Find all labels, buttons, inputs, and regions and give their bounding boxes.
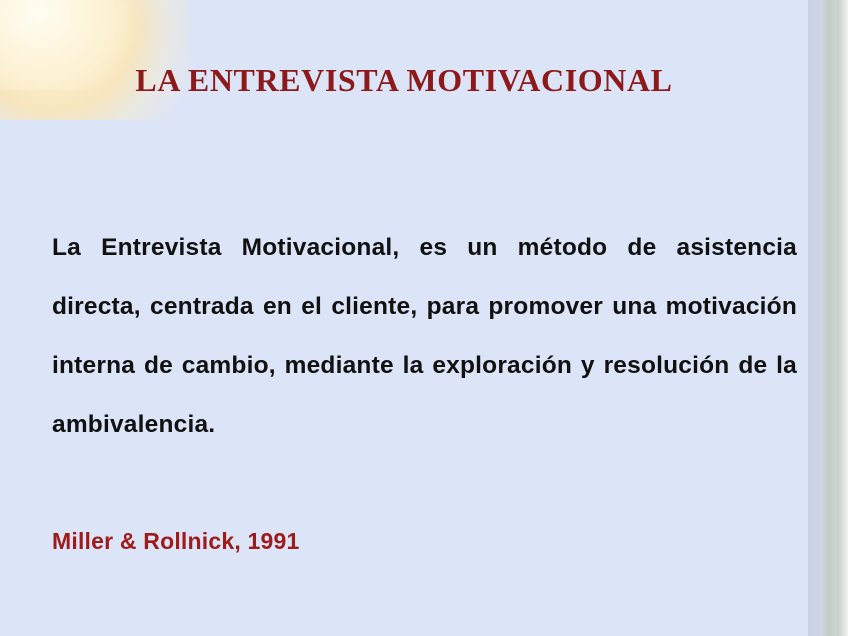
- body-paragraph: La Entrevista Motivacional, es un método…: [52, 218, 797, 454]
- source-attribution: Miller & Rollnick, 1991: [52, 528, 299, 555]
- right-edge-band-stripe: [822, 0, 836, 636]
- right-edge-band-decoration: [808, 0, 848, 636]
- presentation-slide: LA ENTREVISTA MOTIVACIONAL La Entrevista…: [0, 0, 848, 636]
- slide-title: LA ENTREVISTA MOTIVACIONAL: [0, 62, 808, 99]
- body-paragraph-last-line: ambivalencia.: [52, 395, 797, 454]
- corner-glow-decoration: [0, 0, 190, 120]
- body-paragraph-text: La Entrevista Motivacional, es un método…: [52, 234, 797, 379]
- slide-body: La Entrevista Motivacional, es un método…: [52, 218, 797, 454]
